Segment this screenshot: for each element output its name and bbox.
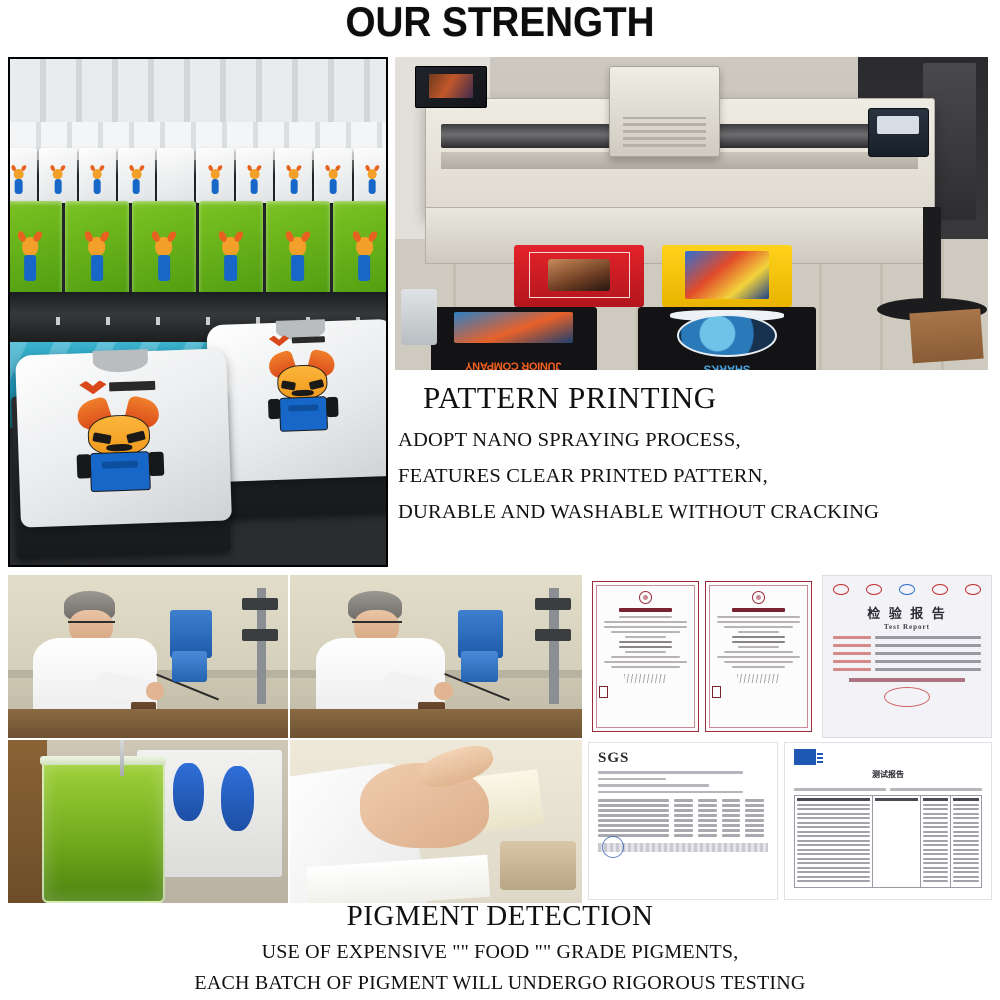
results-table [794,795,982,888]
red-seal-stamp [884,687,930,707]
preview-screen [415,66,486,108]
photo-green-pigment-beaker [8,740,288,903]
lab-equipment [454,588,577,709]
seal-icon [752,591,765,604]
garment-junior-company: JUNIOR COMPANY [431,307,597,370]
signature [624,674,667,683]
blue-seal-stamp [602,836,624,858]
list-item [8,148,37,204]
cardboard-box [909,308,983,363]
pigment-line-2: EACH BATCH OF PIGMENT WILL UNDERGO RIGOR… [0,972,1000,995]
sgs-logo: SGS [598,750,768,767]
list-item [275,148,312,204]
brand-logo-icon [269,334,326,347]
certification-logos [833,584,981,595]
pattern-line-3: DURABLE AND WASHABLE WITHOUT CRACKING [398,501,998,524]
bull-logo-icon [220,237,242,283]
garment-yellow [662,245,792,308]
list-item [118,148,155,204]
bull-logo-icon [130,169,143,196]
document-inspection-report: 检 验 报 告 Test Report [822,575,992,738]
pigment-detection-section: PIGMENT DETECTION USE OF EXPENSIVE "" FO… [0,900,1000,995]
document-test-report: 测试报告 [784,742,992,900]
bull-logo-icon [209,169,222,196]
bull-mascot-icon [71,396,167,499]
bull-mascot-icon [264,349,342,436]
bull-logo-icon [86,237,108,283]
lab-equipment [165,588,283,709]
foreground-shirt-front [15,349,231,528]
bull-logo-icon [52,169,65,196]
white-shirt-row [8,148,388,204]
pattern-heading: PATTERN PRINTING [398,380,998,416]
bull-logo-icon [366,169,379,196]
list-item [196,148,233,204]
cnas-logo-icon [965,584,981,595]
report-title-en: Test Report [833,623,981,631]
garment-artwork-label: JUNIOR COMPANY [447,350,580,370]
list-item [65,201,129,297]
signature [737,674,780,683]
photo-lab-technician-right [290,575,582,738]
list-item [354,148,388,204]
beaker [42,763,165,903]
page-title: OUR STRENGTH [40,0,960,48]
list-item [157,148,194,204]
badge-icon [599,686,608,698]
list-item [236,148,273,204]
pattern-line-2: FEATURES CLEAR PRINTED PATTERN, [398,465,998,488]
green-shirt-row [8,201,388,297]
certificate-cn [592,581,699,732]
iso-logo-icon [899,584,915,595]
bull-logo-icon [354,237,376,283]
report-title-cn: 检 验 报 告 [833,603,981,622]
bull-logo-icon [19,237,41,283]
bull-logo-icon [287,237,309,283]
bull-logo-icon [287,169,300,196]
brand-logo-icon [79,379,155,395]
bull-logo-icon [248,169,261,196]
seal-icon [639,591,652,604]
list-item [266,201,330,297]
test-report-title: 测试报告 [794,769,982,780]
bull-logo-icon [12,169,25,196]
cqc-logo-icon [866,584,882,595]
foreground-shirt-back [207,319,388,482]
cma-logo-icon [932,584,948,595]
shirt-collar [92,350,147,374]
document-sgs-report: SGS [588,742,778,900]
control-panel[interactable] [868,108,929,157]
garment-red [514,245,644,308]
print-carriage [609,66,721,157]
list-item [314,148,351,204]
garment-sharks: SHARKS [638,307,816,370]
photo-dtg-printer: JUNIOR COMPANY SHARKS [395,57,988,370]
pigment-line-1: USE OF EXPENSIVE "" FOOD "" GRADE PIGMEN… [0,941,1000,964]
list-item [8,201,62,297]
ccc-logo-icon [833,584,849,595]
safety-glasses-icon [352,621,402,630]
monitor-stand [923,207,941,313]
pattern-printing-section: PATTERN PRINTING ADOPT NANO SPRAYING PRO… [398,380,998,565]
document-iso-certificates [588,575,816,738]
h-brand-logo-icon [794,749,816,765]
printer-chassis [425,98,935,217]
photo-conveyor-printed-shirts [8,57,388,567]
white-bucket [401,289,437,345]
results-table [598,799,768,837]
bull-logo-icon [153,237,175,283]
garment-artwork-label: SHARKS [663,357,791,370]
factory-wall [10,59,386,160]
pattern-line-1: ADOPT NANO SPRAYING PROCESS, [398,429,998,452]
certificate-en [705,581,812,732]
badge-icon [712,686,721,698]
list-item [79,148,116,204]
photo-lab-technician-left [8,575,288,738]
infographic-page: OUR STRENGTH [0,0,1000,1000]
safety-glasses-icon [68,621,116,630]
photo-hand-with-test-paper [290,740,582,903]
bull-logo-icon [91,169,104,196]
list-item [333,201,388,297]
pigment-heading: PIGMENT DETECTION [0,900,1000,933]
list-item [132,201,196,297]
bull-logo-icon [327,169,340,196]
stirring-rod [120,740,124,776]
list-item [199,201,263,297]
list-item [39,148,76,204]
